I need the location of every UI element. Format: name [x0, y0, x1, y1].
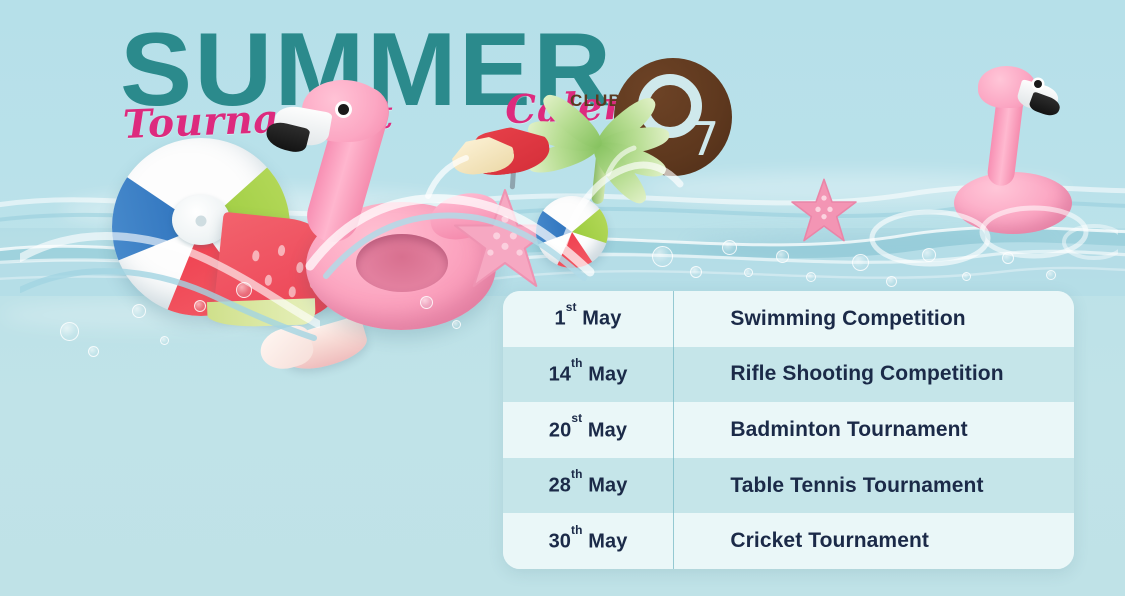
date-suffix: st: [566, 300, 577, 314]
bubble: [652, 246, 673, 267]
schedule-row[interactable]: 1st May Swimming Competition: [503, 291, 1074, 347]
date-day: 30: [549, 531, 571, 553]
bubble: [1002, 252, 1014, 264]
date-day: 14: [549, 364, 571, 386]
bubble: [420, 296, 433, 309]
schedule-event: Swimming Competition: [674, 307, 1074, 331]
schedule-row[interactable]: 30th May Cricket Tournament: [503, 513, 1074, 569]
bubble: [922, 248, 936, 262]
bubble: [88, 346, 99, 357]
bubble: [60, 322, 79, 341]
date-suffix: th: [571, 523, 583, 537]
date-suffix: th: [571, 467, 583, 481]
date-day: 28: [549, 475, 571, 497]
flamingo-ring: [954, 172, 1072, 234]
date-month: May: [588, 419, 627, 441]
date-day: 20: [549, 419, 571, 441]
schedule-row[interactable]: 28th May Table Tennis Tournament: [503, 458, 1074, 514]
bubble: [160, 336, 169, 345]
bubble: [452, 320, 461, 329]
schedule-event: Cricket Tournament: [674, 529, 1074, 553]
bubble: [962, 272, 971, 281]
beach-ball-small-icon: [536, 196, 608, 268]
date-month: May: [582, 308, 621, 330]
schedule-date: 14th May: [503, 362, 673, 387]
schedule-date: 28th May: [503, 473, 673, 498]
schedule-card: 1st May Swimming Competition 14th May Ri…: [503, 291, 1074, 569]
schedule-event: Rifle Shooting Competition: [674, 362, 1074, 386]
schedule-date: 30th May: [503, 529, 673, 554]
bubble: [194, 300, 206, 312]
logo-seven: 7: [690, 116, 719, 162]
ball-panel-green: [572, 205, 608, 243]
bubble: [776, 250, 789, 263]
flamingo-eye: [1034, 80, 1042, 88]
schedule-event: Table Tennis Tournament: [674, 474, 1074, 498]
date-suffix: st: [571, 411, 582, 425]
flamingo-head: [978, 66, 1036, 108]
bubble: [1046, 270, 1056, 280]
bubble: [806, 272, 816, 282]
bubble: [744, 268, 753, 277]
bubble: [236, 282, 252, 298]
schedule-row[interactable]: 14th May Rifle Shooting Competition: [503, 347, 1074, 403]
poster-canvas: SUMMER TournamentCalendar CLUB 7: [0, 0, 1125, 596]
small-ball-sphere: [536, 196, 608, 268]
date-day: 1: [555, 308, 566, 330]
flamingo-ring-hole: [356, 234, 448, 292]
flamingo-eye: [338, 104, 349, 115]
schedule-date: 1st May: [503, 306, 673, 331]
starfish-icon: [790, 178, 858, 242]
flamingo-float-right-icon: [930, 62, 1080, 232]
schedule-date: 20st May: [503, 418, 673, 443]
bubble: [886, 276, 897, 287]
date-month: May: [588, 475, 627, 497]
date-month: May: [588, 364, 627, 386]
flamingo-head: [302, 80, 388, 142]
bubble: [690, 266, 702, 278]
bubble: [132, 304, 146, 318]
schedule-row[interactable]: 20st May Badminton Tournament: [503, 402, 1074, 458]
bubble: [722, 240, 737, 255]
date-month: May: [588, 531, 627, 553]
bubble: [852, 254, 869, 271]
schedule-event: Badminton Tournament: [674, 418, 1074, 442]
date-suffix: th: [571, 356, 583, 370]
